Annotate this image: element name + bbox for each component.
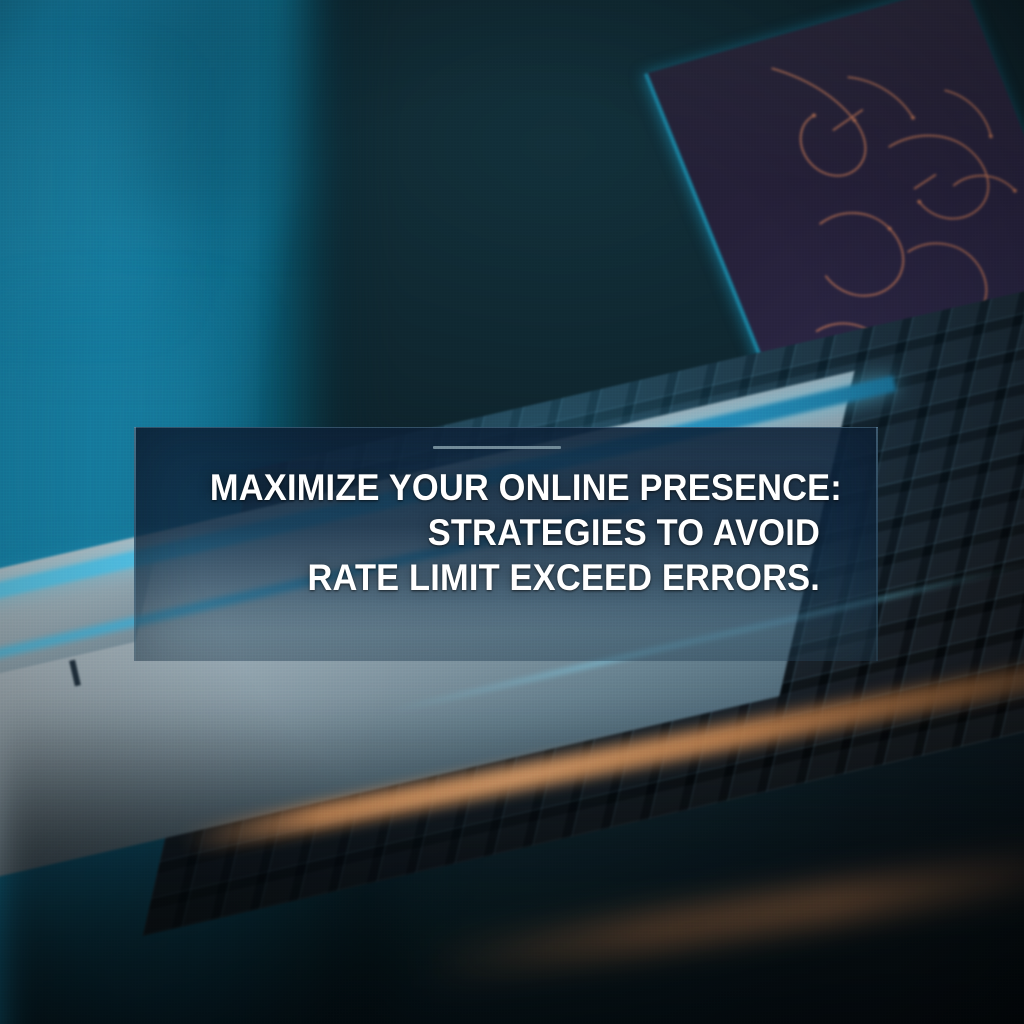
blurred-wall-shape-a bbox=[0, 90, 150, 290]
overlay-edge-right bbox=[876, 427, 878, 661]
decorative-rule bbox=[433, 446, 561, 449]
headline-line-2: STRATEGIES TO AVOID bbox=[210, 510, 820, 555]
desk-shadow bbox=[0, 700, 1024, 1024]
overlay-edge-left bbox=[134, 427, 136, 661]
title-overlay-panel: MAXIMIZE YOUR ONLINE PRESENCE: STRATEGIE… bbox=[134, 427, 878, 661]
headline-block: MAXIMIZE YOUR ONLINE PRESENCE: STRATEGIE… bbox=[164, 465, 820, 600]
headline-line-3: RATE LIMIT EXCEED ERRORS. bbox=[210, 555, 820, 600]
headline-line-1: MAXIMIZE YOUR ONLINE PRESENCE: bbox=[210, 465, 820, 510]
hero-image-canvas: MAXIMIZE YOUR ONLINE PRESENCE: STRATEGIE… bbox=[0, 0, 1024, 1024]
overlay-edge-top bbox=[134, 427, 878, 428]
